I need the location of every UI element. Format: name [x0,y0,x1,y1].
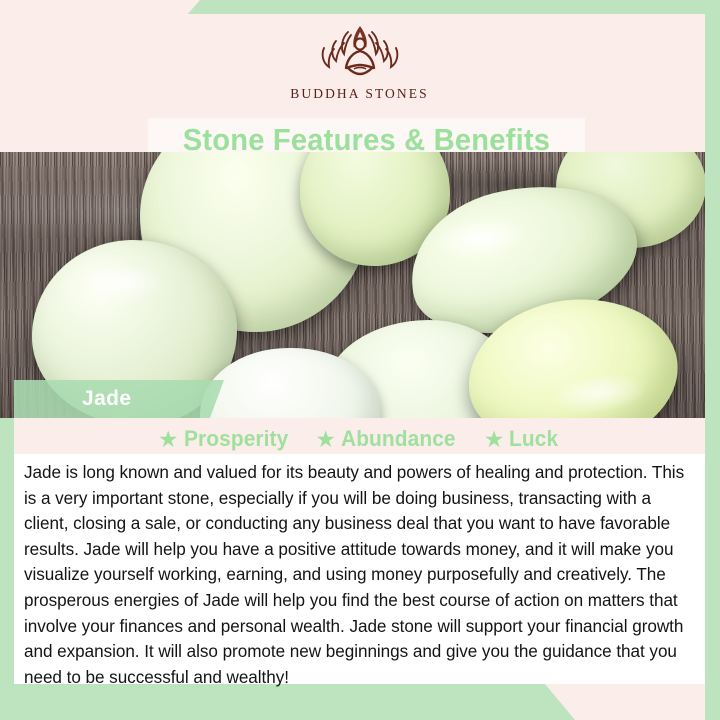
star-icon: ★ [315,428,336,451]
header: BUDDHA STONES Stone Features & Benefits [14,14,705,152]
stone-photo [0,152,705,418]
brand-name: BUDDHA STONES [290,86,428,102]
content-area: ★ Prosperity ★ Abundance ★ Luck Jade is … [14,418,705,684]
benefit-label: Prosperity [184,426,288,452]
brand-logo: BUDDHA STONES [14,22,705,102]
star-icon: ★ [158,428,179,451]
benefit-item: ★ Abundance [315,426,461,452]
benefit-item: ★ Prosperity [158,426,293,452]
right-green-edge [705,0,720,720]
benefit-label: Abundance [341,426,456,452]
lotus-meditation-figure-icon [314,22,406,82]
benefit-item: ★ Luck [484,426,561,452]
star-icon: ★ [484,428,505,451]
benefit-label: Luck [509,426,558,452]
description-text: Jade is long known and valued for its be… [24,460,689,690]
description-box: Jade is long known and valued for its be… [14,454,705,684]
benefits-row: ★ Prosperity ★ Abundance ★ Luck [14,418,705,454]
stone-name-band: Jade [14,380,224,418]
stone-name-label: Jade [82,387,131,411]
